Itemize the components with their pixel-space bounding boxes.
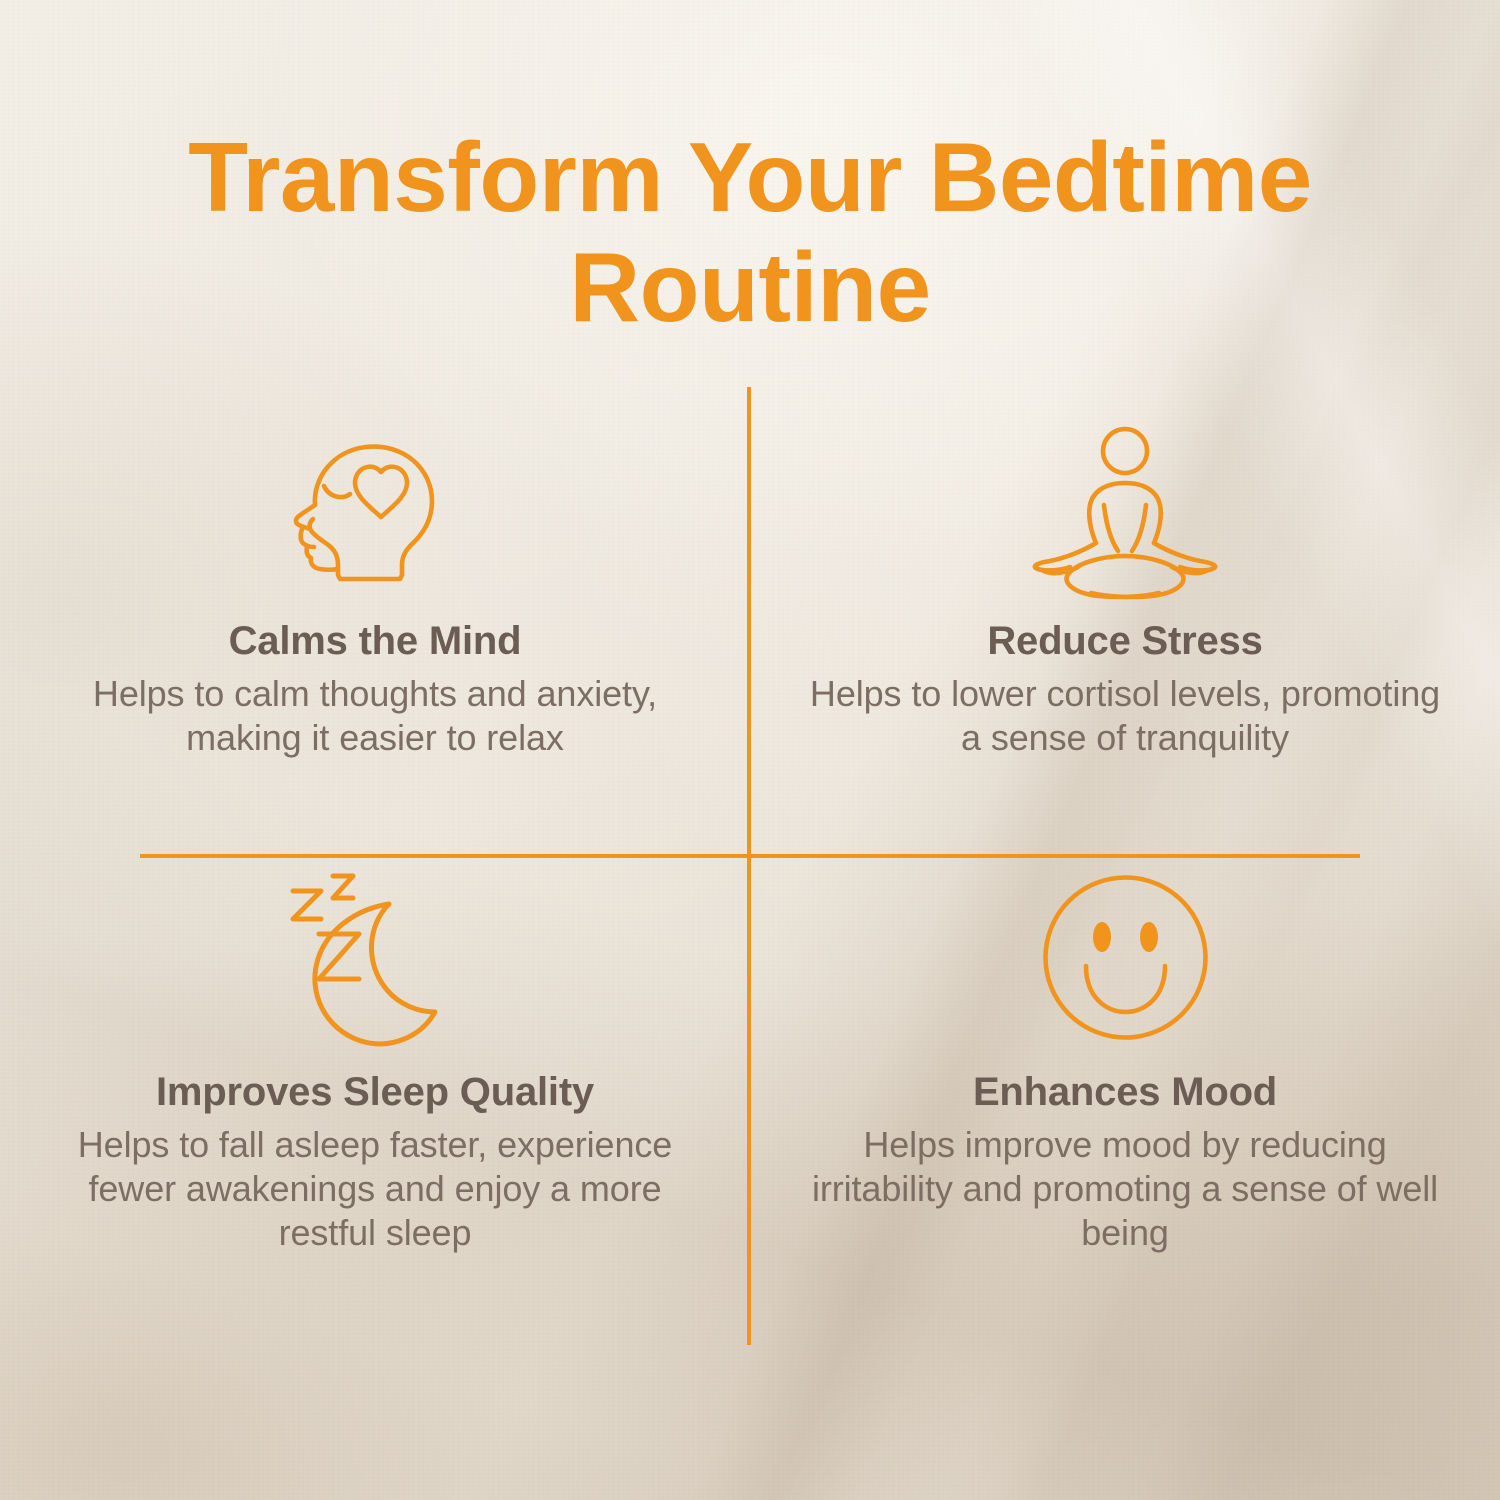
benefit-title: Improves Sleep Quality	[156, 1070, 594, 1115]
page-title: Transform Your Bedtime Routine	[0, 122, 1500, 343]
benefit-title: Calms the Mind	[229, 619, 522, 664]
smiley-face-icon	[1033, 855, 1218, 1060]
benefit-card-enhances-mood: Enhances Mood Helps improve mood by redu…	[750, 855, 1500, 1345]
crescent-moon-zzz-icon	[275, 855, 475, 1060]
meditating-person-icon	[1018, 420, 1233, 605]
benefit-card-calms-the-mind: Calms the Mind Helps to calm thoughts an…	[0, 420, 750, 855]
benefit-title: Reduce Stress	[987, 619, 1262, 664]
benefits-grid: Calms the Mind Helps to calm thoughts an…	[0, 420, 1500, 1370]
benefit-card-improves-sleep-quality: Improves Sleep Quality Helps to fall asl…	[0, 855, 750, 1345]
benefit-description: Helps to calm thoughts and anxiety, maki…	[55, 672, 695, 760]
benefit-description: Helps improve mood by reducing irritabil…	[805, 1123, 1445, 1255]
head-with-heart-icon	[280, 420, 470, 605]
benefit-title: Enhances Mood	[973, 1070, 1277, 1115]
poster-canvas: Transform Your Bedtime Routine	[0, 0, 1500, 1500]
benefit-description: Helps to lower cortisol levels, promotin…	[805, 672, 1445, 760]
benefit-description: Helps to fall asleep faster, experience …	[55, 1123, 695, 1255]
benefit-card-reduce-stress: Reduce Stress Helps to lower cortisol le…	[750, 420, 1500, 855]
